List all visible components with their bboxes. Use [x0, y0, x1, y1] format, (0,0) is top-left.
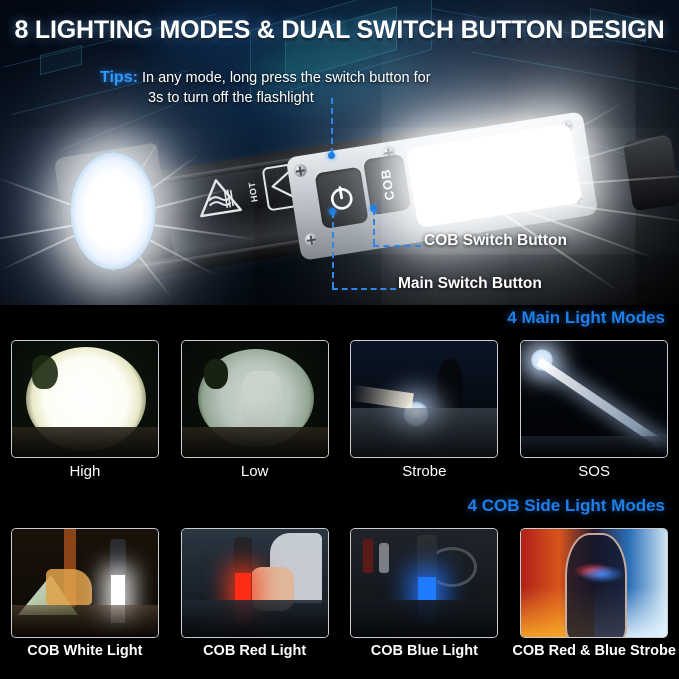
cob-switch-callout-label: COB Switch Button [424, 232, 567, 250]
tips-label: Tips: [100, 69, 138, 86]
cob-image-white[interactable] [11, 528, 159, 638]
tips-text: Tips: In any mode, long press the switch… [100, 68, 570, 108]
mode-image-strobe[interactable] [350, 340, 498, 458]
cob-label-red: COB Red Light [203, 643, 306, 659]
infographic-page: HOT COMA [0, 0, 679, 679]
cob-callout-line-v [373, 209, 375, 245]
tips-callout-dot [328, 152, 335, 159]
mode-cell-sos[interactable]: SOS [509, 340, 679, 480]
cob-image-red[interactable] [181, 528, 329, 638]
mode-image-sos[interactable] [520, 340, 668, 458]
hot-warning-icon [193, 174, 245, 221]
main-callout-line-v [332, 212, 334, 288]
person-silhouette [565, 533, 627, 638]
cob-callout-line-h [373, 245, 421, 247]
main-switch-button[interactable] [315, 167, 369, 230]
section-heading-main-modes: 4 Main Light Modes [507, 308, 665, 328]
flashlight-tailcap [623, 135, 679, 212]
tips-line-2: 3s to turn off the flashlight [148, 88, 570, 108]
mode-label-high: High [69, 463, 100, 480]
mode-image-low[interactable] [181, 340, 329, 458]
cob-image-blue[interactable] [350, 528, 498, 638]
mode-image-high[interactable] [11, 340, 159, 458]
cob-label-redblue: COB Red & Blue Strobe [512, 643, 676, 659]
tips-callout-line [331, 98, 333, 154]
flashlight-lens [70, 152, 156, 270]
cob-image-redblue[interactable] [520, 528, 668, 638]
mode-label-strobe: Strobe [402, 463, 446, 480]
screw-icon [293, 163, 308, 178]
main-modes-row: High Low Strob [0, 340, 679, 480]
cob-cell-white[interactable]: COB White Light [0, 528, 170, 659]
section-heading-cob-modes: 4 COB Side Light Modes [468, 496, 665, 516]
main-callout-line-h [332, 288, 396, 290]
mode-cell-strobe[interactable]: Strobe [340, 340, 510, 480]
hero-background: HOT COMA [0, 0, 679, 305]
flashlight-illustration: HOT COMA [40, 120, 660, 280]
cob-light-panel [406, 123, 582, 228]
main-switch-callout-label: Main Switch Button [398, 275, 542, 293]
cob-cell-red[interactable]: COB Red Light [170, 528, 340, 659]
cob-label-blue: COB Blue Light [371, 643, 478, 659]
page-title: 8 LIGHTING MODES & DUAL SWITCH BUTTON DE… [0, 16, 679, 45]
cob-label-white: COB White Light [27, 643, 142, 659]
mode-label-low: Low [241, 463, 269, 480]
cob-modes-row: COB White Light COB Red Light [0, 528, 679, 659]
cob-cell-blue[interactable]: COB Blue Light [340, 528, 510, 659]
hot-label: HOT [247, 181, 260, 203]
tips-line-1: In any mode, long press the switch butto… [142, 70, 431, 86]
mode-label-sos: SOS [578, 463, 610, 480]
mode-cell-high[interactable]: High [0, 340, 170, 480]
screw-icon [304, 232, 319, 247]
cob-cell-redblue[interactable]: COB Red & Blue Strobe [509, 528, 679, 659]
cob-button-label: COB [377, 168, 397, 202]
mode-cell-low[interactable]: Low [170, 340, 340, 480]
